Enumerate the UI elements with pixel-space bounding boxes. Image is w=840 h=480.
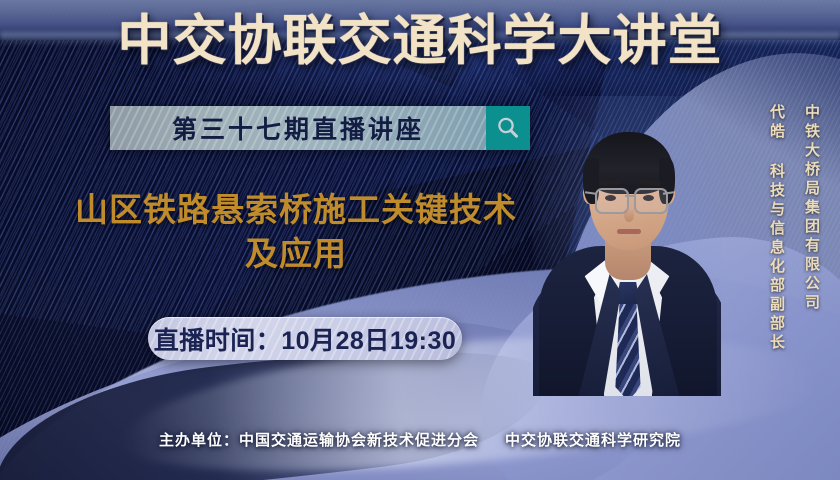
speaker-organization-text: 中铁大桥局集团有限公司 bbox=[803, 104, 820, 313]
organizer-prefix: 主办单位： bbox=[159, 432, 239, 449]
live-lecture-poster: 中交协联交通科学大讲堂 第三十七期直播讲座 山区铁路悬索桥施工关键技术 及应用 … bbox=[0, 0, 840, 480]
speaker-name-and-title: 代皓 科技与信息化部副部长 bbox=[766, 104, 787, 353]
portrait-nose bbox=[624, 208, 634, 222]
search-icon-box[interactable] bbox=[486, 106, 530, 150]
speaker-portrait bbox=[533, 96, 721, 396]
organizer-footer: 主办单位：中国交通运输协会新技术促进分会中交协联交通科学研究院 bbox=[0, 429, 840, 450]
lecture-title-line-1: 山区铁路悬索桥施工关键技术 bbox=[36, 188, 556, 232]
organizer-name-2: 中交协联交通科学研究院 bbox=[505, 432, 681, 449]
broadcast-time-pill: 直播时间：10月28日19:30 bbox=[148, 317, 462, 360]
lecture-title: 山区铁路悬索桥施工关键技术 及应用 bbox=[36, 188, 556, 275]
speaker-name-title-text: 代皓 科技与信息化部副部长 bbox=[768, 104, 785, 353]
organizer-name-1: 中国交通运输协会新技术促进分会 bbox=[239, 432, 479, 449]
session-banner: 第三十七期直播讲座 bbox=[110, 106, 530, 150]
search-icon bbox=[495, 115, 521, 141]
portrait-glasses-bridge bbox=[625, 195, 634, 197]
broadcast-time-text: 直播时间：10月28日19:30 bbox=[154, 321, 457, 357]
portrait-glasses-lens-right bbox=[634, 188, 668, 214]
speaker-info: 代皓 科技与信息化部副部长 中铁大桥局集团有限公司 bbox=[766, 104, 822, 353]
session-banner-bar: 第三十七期直播讲座 bbox=[110, 106, 486, 150]
portrait-mouth bbox=[617, 229, 641, 234]
speaker-organization: 中铁大桥局集团有限公司 bbox=[801, 104, 822, 313]
session-banner-label: 第三十七期直播讲座 bbox=[172, 110, 424, 146]
page-title: 中交协联交通科学大讲堂 bbox=[0, 14, 840, 68]
lecture-title-line-2: 及应用 bbox=[36, 232, 556, 276]
